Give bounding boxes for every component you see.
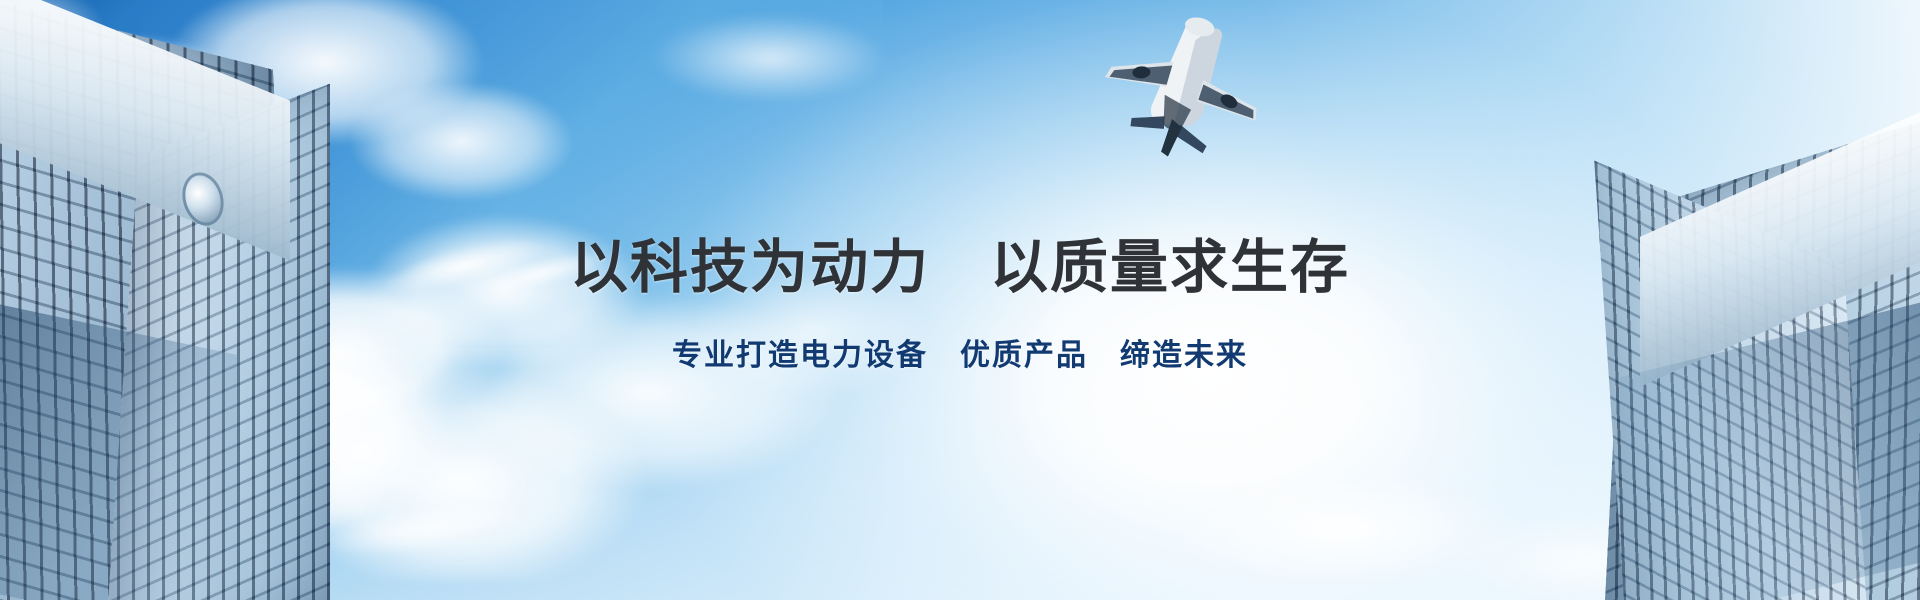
banner-subheadline: 专业打造电力设备 优质产品 缔造未来 xyxy=(0,338,1920,374)
banner-headline: 以科技为动力 以质量求生存 xyxy=(0,236,1920,300)
banner-copy: 以科技为动力 以质量求生存 专业打造电力设备 优质产品 缔造未来 xyxy=(0,236,1920,374)
hero-banner: 以科技为动力 以质量求生存 专业打造电力设备 优质产品 缔造未来 xyxy=(0,0,1920,600)
